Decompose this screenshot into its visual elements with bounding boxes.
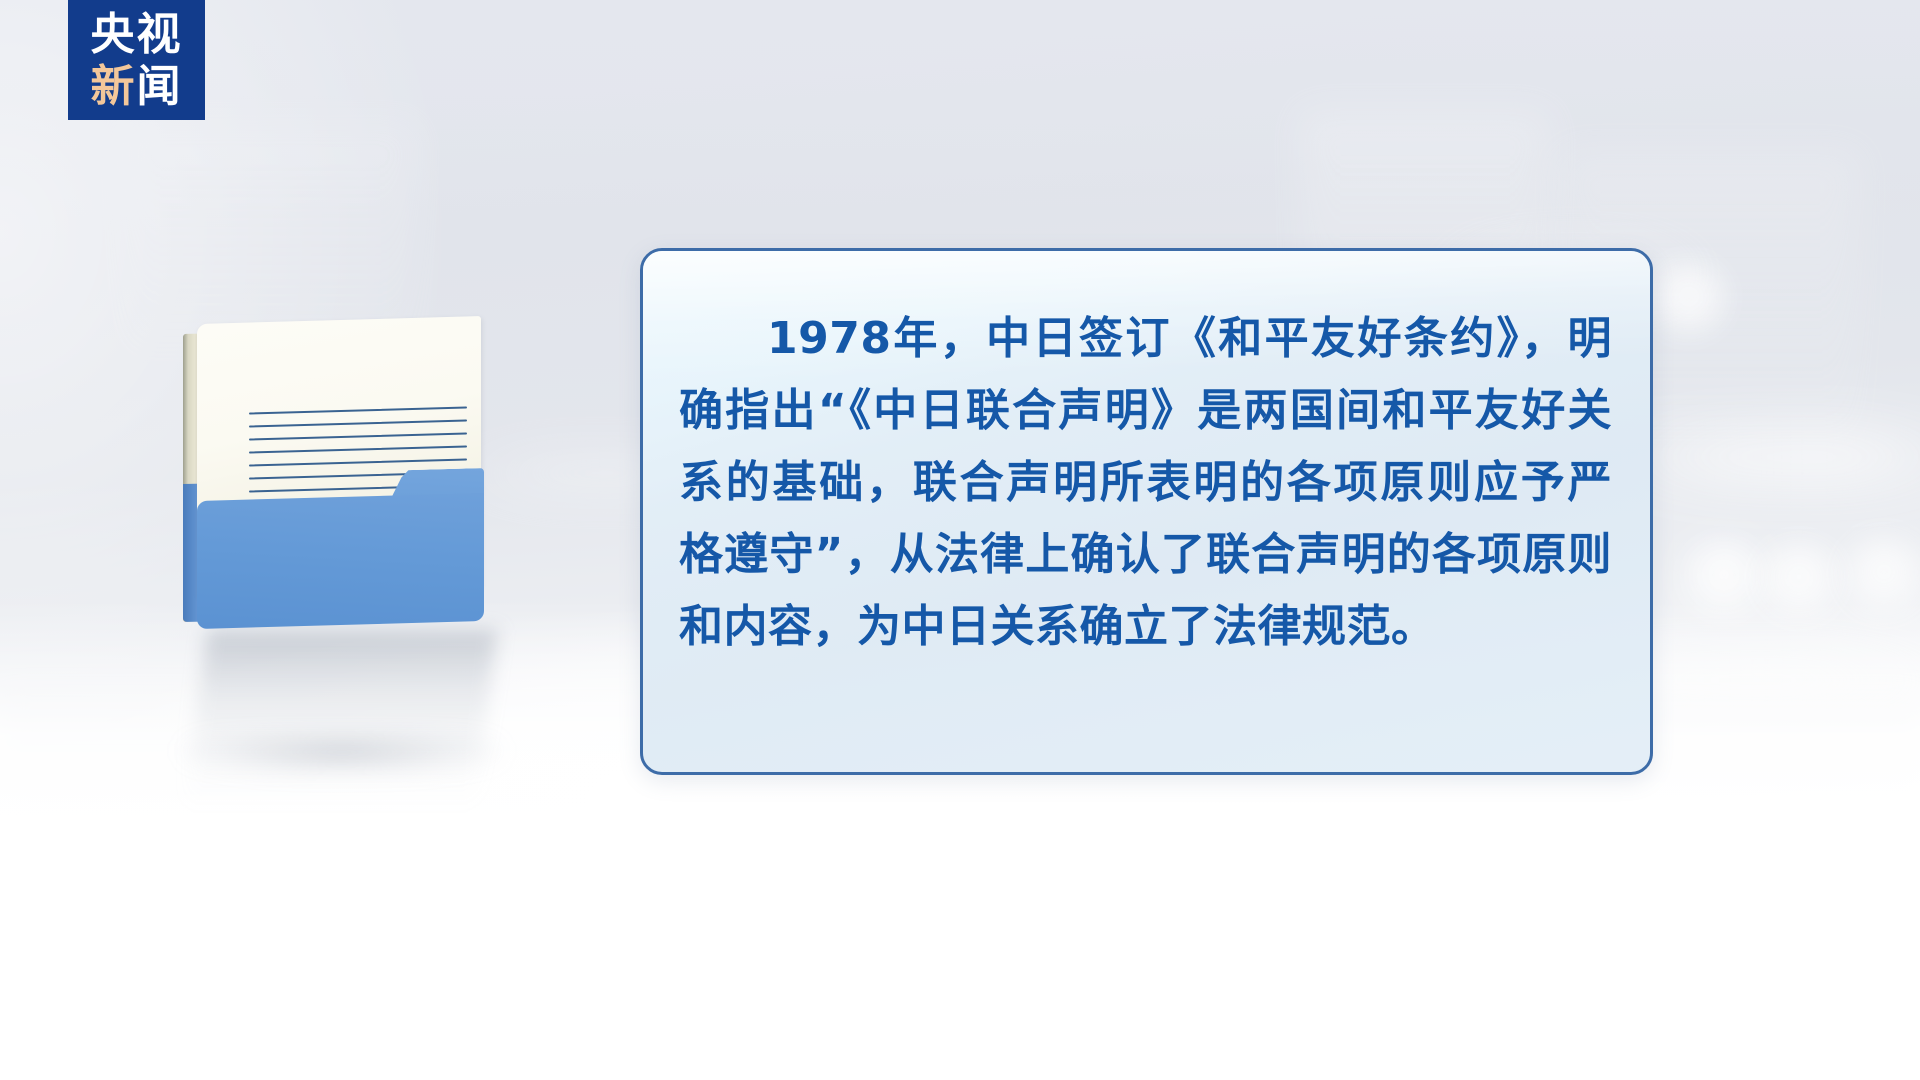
logo-line-secondary: 新闻 [91,61,183,113]
cctv-news-logo: 央视 新闻 [68,0,205,120]
quote-card-text: 1978年，中日签订《和平友好条约》，明确指出“《中日联合声明》是两国间和平友好… [643,251,1650,663]
folder-icon-reflection [185,630,497,810]
logo-char-wen: 闻 [137,61,183,112]
folder-icon-shadow [182,735,502,775]
quote-paragraph: 1978年，中日签订《和平友好条约》，明确指出“《中日联合声明》是两国间和平友好… [679,303,1612,663]
paper-rule-line [249,432,467,440]
quote-card: 1978年，中日签订《和平友好条约》，明确指出“《中日联合声明》是两国间和平友好… [640,248,1653,775]
logo-char-xin: 新 [91,61,137,112]
broadcast-graphic-stage: 央视 新闻 1978年，中日签订《和平友好条约》，明确指出“《中日 [0,0,1920,1080]
paper-rule-line [249,406,467,414]
folder-front-cover [197,468,484,629]
logo-line-primary: 央视 [91,9,183,61]
document-folder-icon [183,324,488,624]
paper-rule-line [249,458,467,466]
paper-rule-line [249,445,467,453]
background-bokeh-light [1646,258,1732,344]
paper-rule-line [249,419,467,427]
folder-front-body [197,493,484,629]
quote-paragraph-body: 1978年，中日签订《和平友好条约》，明确指出“《中日联合声明》是两国间和平友好… [679,313,1612,652]
